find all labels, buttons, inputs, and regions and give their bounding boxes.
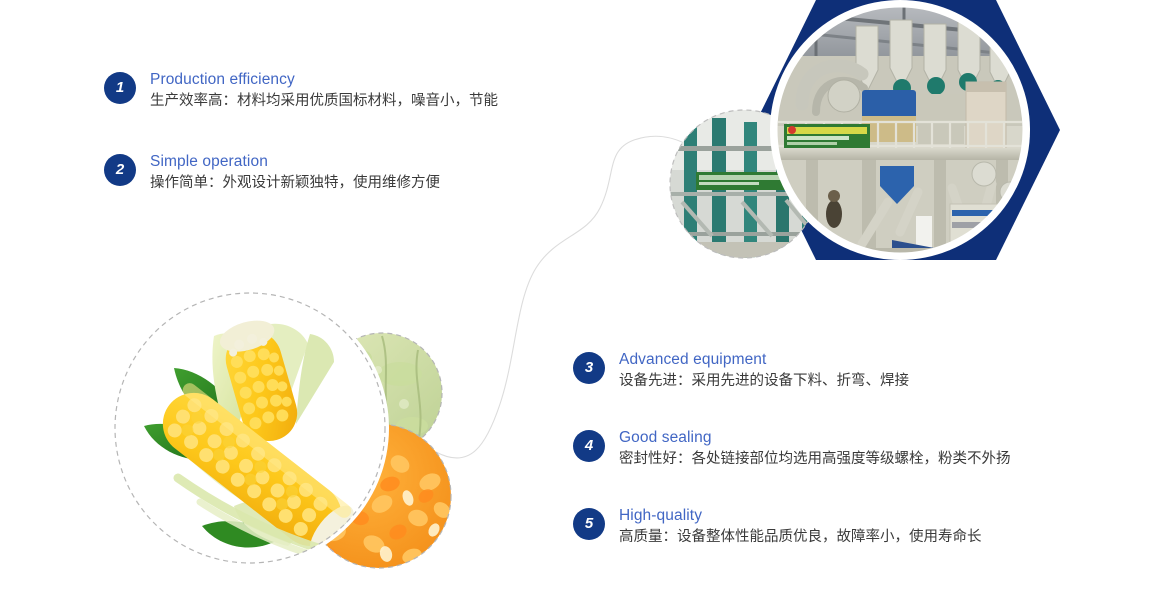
feature-title-3: Advanced equipment [619,350,909,370]
feature-title-1: Production efficiency [150,70,498,90]
feature-text-4: Good sealing 密封性好：各处链接部位均选用高强度等级螺栓，粉类不外扬 [619,428,1011,470]
corn-photo-composition [82,278,492,591]
top-right-photo-composition [666,0,1154,268]
corn-cobs-photo [111,289,389,567]
feature-badge-5: 5 [573,508,605,540]
feature-title-4: Good sealing [619,428,1011,448]
feature-desc-4: 密封性好：各处链接部位均选用高强度等级螺栓，粉类不外扬 [619,449,1011,470]
feature-text-3: Advanced equipment 设备先进：采用先进的设备下料、折弯、焊接 [619,350,909,392]
infographic-canvas: 1 Production efficiency 生产效率高：材料均采用优质国标材… [0,0,1154,591]
feature-text-1: Production efficiency 生产效率高：材料均采用优质国标材料，… [150,70,498,112]
feature-item-5[interactable]: 5 High-quality 高质量：设备整体性能品质优良，故障率小，使用寿命长 [573,506,982,548]
feature-desc-2: 操作简单：外观设计新颖独特，使用维修方便 [150,173,440,194]
feature-badge-4: 4 [573,430,605,462]
milling-plant-photo [770,0,1030,260]
feature-desc-3: 设备先进：采用先进的设备下料、折弯、焊接 [619,371,909,392]
feature-badge-3: 3 [573,352,605,384]
feature-item-4[interactable]: 4 Good sealing 密封性好：各处链接部位均选用高强度等级螺栓，粉类不… [573,428,1011,470]
feature-title-5: High-quality [619,506,982,526]
feature-desc-5: 高质量：设备整体性能品质优良，故障率小，使用寿命长 [619,527,982,548]
feature-badge-1: 1 [104,72,136,104]
feature-desc-1: 生产效率高：材料均采用优质国标材料，噪音小，节能 [150,91,498,112]
feature-badge-2: 2 [104,154,136,186]
photo-banner [784,124,870,148]
feature-text-2: Simple operation 操作简单：外观设计新颖独特，使用维修方便 [150,152,440,194]
feature-title-2: Simple operation [150,152,440,172]
feature-item-3[interactable]: 3 Advanced equipment 设备先进：采用先进的设备下料、折弯、焊… [573,350,909,392]
feature-text-5: High-quality 高质量：设备整体性能品质优良，故障率小，使用寿命长 [619,506,982,548]
feature-item-2[interactable]: 2 Simple operation 操作简单：外观设计新颖独特，使用维修方便 [104,152,440,194]
feature-item-1[interactable]: 1 Production efficiency 生产效率高：材料均采用优质国标材… [104,70,498,112]
